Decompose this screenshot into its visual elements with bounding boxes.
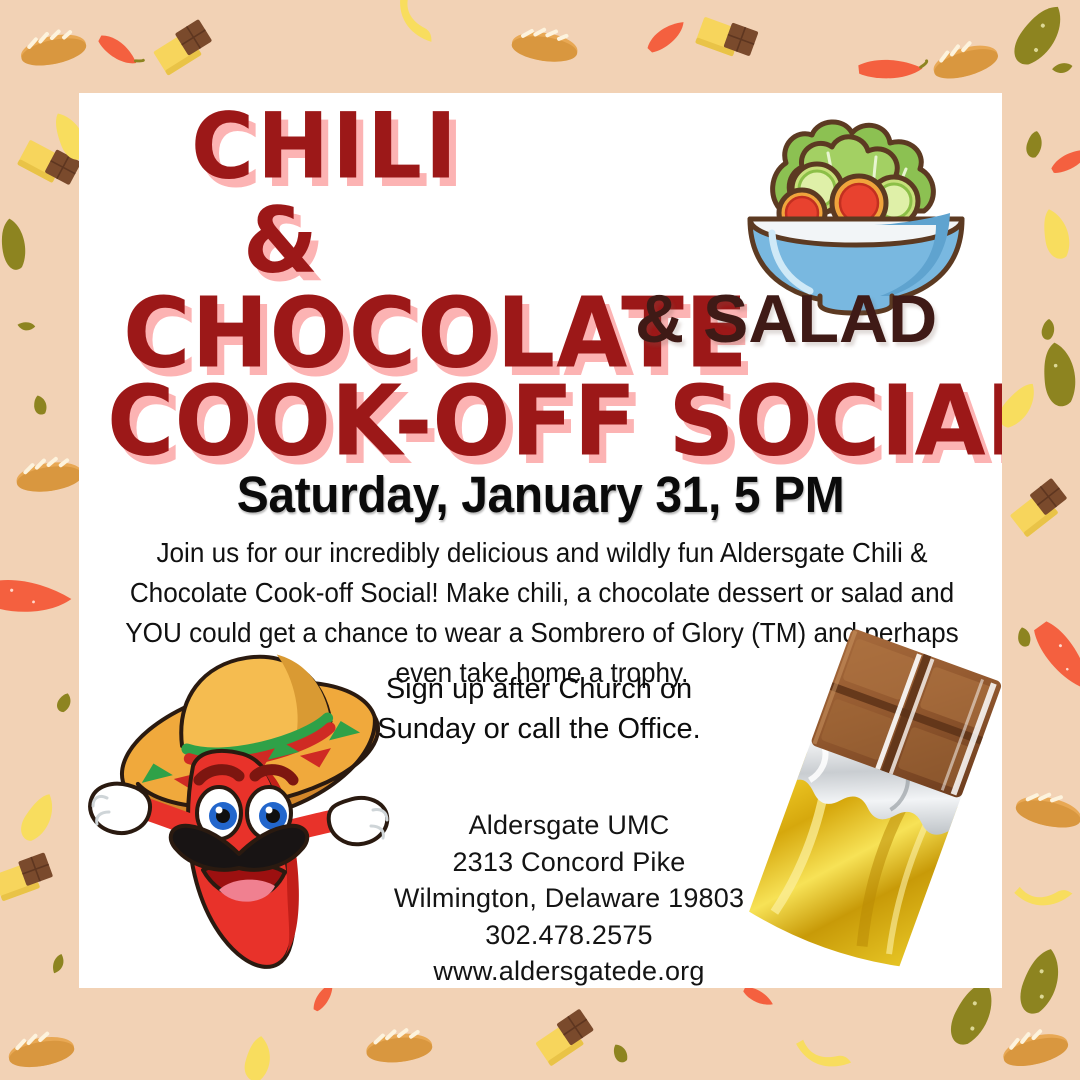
- chocolate-bar-icon: [0, 851, 60, 905]
- banana-icon: [789, 1021, 859, 1080]
- poster-canvas: CHILI & CHOCOLATE COOK-OFF SOCIAL & SALA…: [0, 0, 1080, 1080]
- jalapeno-icon: [53, 689, 78, 716]
- chili-pepper-icon: [0, 567, 78, 631]
- city-state-zip: Wilmington, Delaware 19803: [369, 880, 769, 917]
- banana-icon: [382, 0, 450, 49]
- chocolate-bar-icon: [1007, 475, 1076, 540]
- bread-loaf-icon: [362, 1022, 436, 1069]
- organization-contact-block: Aldersgate UMC 2313 Concord Pike Wilming…: [369, 807, 769, 988]
- jalapeno-icon: [0, 214, 35, 276]
- chili-pepper-icon: [1046, 143, 1080, 178]
- leaf-icon: [44, 950, 71, 977]
- bread-loaf-icon: [508, 20, 583, 69]
- banana-icon: [1007, 858, 1080, 931]
- bread-loaf-icon: [1011, 783, 1080, 837]
- phone-number: 302.478.2575: [369, 917, 769, 954]
- bread-loaf-icon: [15, 21, 92, 75]
- bread-loaf-icon: [12, 450, 87, 499]
- poster-card: CHILI & CHOCOLATE COOK-OFF SOCIAL & SALA…: [79, 93, 1002, 988]
- chocolate-bar-illustration: [754, 633, 1002, 978]
- website-url: www.aldersgatede.org: [369, 953, 769, 988]
- title-line-chili: CHILI: [191, 101, 460, 192]
- title-line-cookoff-social: COOK-OFF SOCIAL: [107, 373, 1002, 471]
- title-line-ampersand: &: [243, 195, 318, 286]
- description-line: Chocolate Cook-off Social! Make chili, a…: [125, 573, 959, 613]
- bread-loaf-icon: [3, 1024, 79, 1076]
- leaf-icon: [1048, 54, 1075, 81]
- banana-icon: [1033, 202, 1080, 265]
- jalapeno-icon: [30, 392, 53, 418]
- chili-pepper-icon: [637, 13, 694, 59]
- banana-icon: [11, 785, 66, 850]
- jalapeno-icon: [1010, 941, 1075, 1025]
- chocolate-bar-icon: [533, 1006, 603, 1069]
- jalapeno-icon: [608, 1039, 634, 1067]
- bread-loaf-icon: [996, 1020, 1074, 1076]
- chili-pepper-mascot-illustration: [79, 638, 413, 988]
- bread-loaf-icon: [926, 31, 1004, 89]
- street-address: 2313 Concord Pike: [369, 844, 769, 881]
- description-line: Join us for our incredibly delicious and…: [125, 533, 959, 573]
- chili-pepper-icon: [91, 23, 144, 77]
- chili-pepper-icon: [1026, 612, 1080, 706]
- leaf-icon: [15, 315, 38, 338]
- jalapeno-icon: [1039, 317, 1059, 343]
- chili-pepper-icon: [854, 51, 927, 88]
- salad-bowl-illustration: [724, 93, 989, 306]
- event-date: Saturday, January 31, 5 PM: [107, 465, 975, 524]
- title-salad-tag: & SALAD: [635, 285, 937, 353]
- chocolate-bar-icon: [694, 13, 763, 67]
- banana-icon: [239, 1032, 280, 1080]
- chocolate-bar-icon: [151, 17, 221, 79]
- org-name: Aldersgate UMC: [369, 807, 769, 844]
